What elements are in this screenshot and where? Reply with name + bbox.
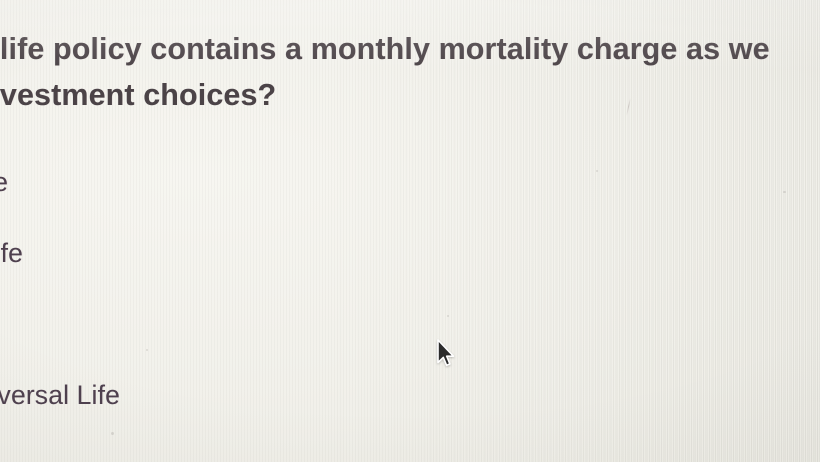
mouse-cursor-icon [435, 338, 455, 370]
question-line-2: ted investment choices? [0, 72, 820, 118]
photo-speck-artifact [146, 349, 148, 351]
question-text: oe of life policy contains a monthly mor… [0, 26, 820, 118]
answer-option-3[interactable]: Life [0, 308, 814, 340]
answer-option-4[interactable]: ble Universal Life [0, 379, 814, 411]
question-line-1: oe of life policy contains a monthly mor… [0, 26, 820, 72]
answer-option-2[interactable]: table Life [0, 237, 814, 269]
answer-option-1[interactable]: rsal Life [0, 166, 814, 198]
photographed-screen: oe of life policy contains a monthly mor… [0, 0, 820, 462]
photo-speck-artifact [111, 432, 114, 435]
